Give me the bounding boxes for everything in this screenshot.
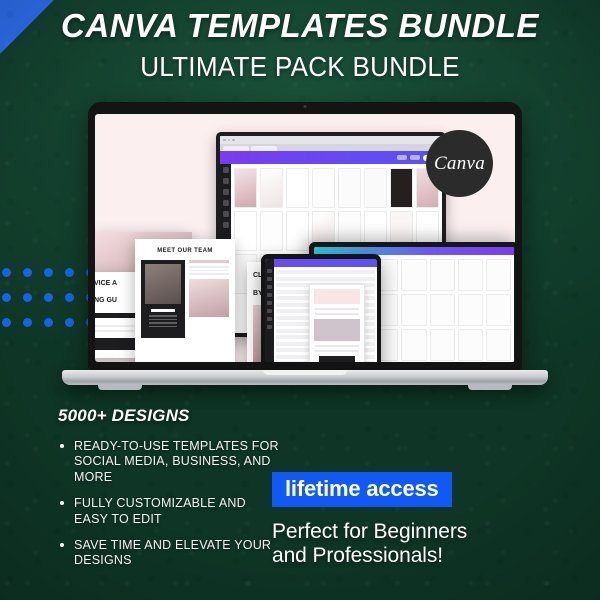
canva-logo-text: Canva (434, 153, 485, 175)
laptop-foot (98, 385, 142, 390)
tablet-document-preview (309, 284, 365, 362)
grid-dot (44, 293, 53, 302)
grid-dot (65, 318, 74, 327)
template-thumb (364, 168, 387, 208)
header: CANVA TEMPLATES BUNDLE ULTIMATE PACK BUN… (0, 8, 600, 84)
template-thumb (260, 211, 283, 251)
browser-tabs (220, 144, 442, 151)
laptop-screen: Canva (95, 114, 515, 362)
template-thumb (260, 168, 283, 208)
features-headline: 5000+ DESIGNS (58, 406, 283, 426)
list-item: READY-TO-USE TEMPLATES FOR SOCIAL MEDIA,… (58, 439, 283, 485)
team-card-heading: MEET OUR TEAM (135, 239, 235, 260)
webcam-icon (281, 102, 329, 110)
laptop-foot (468, 385, 512, 390)
grid-dot (2, 268, 11, 277)
template-thumb (286, 168, 309, 208)
laptop-base (62, 370, 548, 385)
laptop-lid: Canva (88, 102, 522, 370)
grid-dot (2, 293, 11, 302)
promo-tagline: Perfect for Beginners and Professionals! (272, 520, 562, 569)
grid-dot (23, 293, 32, 302)
grid-dot (44, 268, 53, 277)
grid-dot (44, 318, 53, 327)
grid-dot (65, 268, 74, 277)
promo-section: lifetime access Perfect for Beginners an… (272, 472, 562, 569)
tablet-mockup (261, 254, 381, 362)
lifetime-access-badge: lifetime access (272, 472, 452, 507)
list-item: SAVE TIME AND ELEVATE YOUR DESIGNS (58, 538, 283, 569)
features-section: 5000+ DESIGNS READY-TO-USE TEMPLATES FOR… (58, 406, 283, 580)
grid-dot (23, 268, 32, 277)
promo-tagline-line2: and Professionals! (272, 544, 562, 568)
team-member-secondary (189, 260, 229, 338)
template-thumb (312, 168, 335, 208)
editor-toolbar (220, 151, 442, 164)
laptop-mockup: Canva (88, 102, 522, 385)
laptop-notch (263, 370, 347, 375)
list-item: FULLY CUSTOMIZABLE AND EASY TO EDIT (58, 496, 283, 527)
grid-dot (2, 318, 11, 327)
page-subtitle: ULTIMATE PACK BUNDLE (21, 50, 579, 84)
poster-canvas: CANVA TEMPLATES BUNDLE ULTIMATE PACK BUN… (0, 0, 600, 600)
features-list: READY-TO-USE TEMPLATES FOR SOCIAL MEDIA,… (58, 439, 283, 569)
template-thumb (286, 211, 309, 251)
grid-dot (65, 293, 74, 302)
page-title: CANVA TEMPLATES BUNDLE (0, 8, 600, 45)
template-thumb (234, 168, 257, 208)
promo-tagline-line1: Perfect for Beginners (272, 520, 562, 544)
template-card-team: MEET OUR TEAM (135, 239, 235, 362)
template-thumb (338, 168, 361, 208)
canva-logo-badge: Canva (426, 130, 493, 197)
grid-dot (23, 318, 32, 327)
tablet-toolbar (274, 259, 377, 267)
team-member-primary (141, 260, 185, 338)
template-thumb (234, 211, 257, 251)
browser-chrome (220, 136, 442, 144)
template-thumb (390, 168, 413, 208)
tablet-sidebar (265, 259, 274, 362)
